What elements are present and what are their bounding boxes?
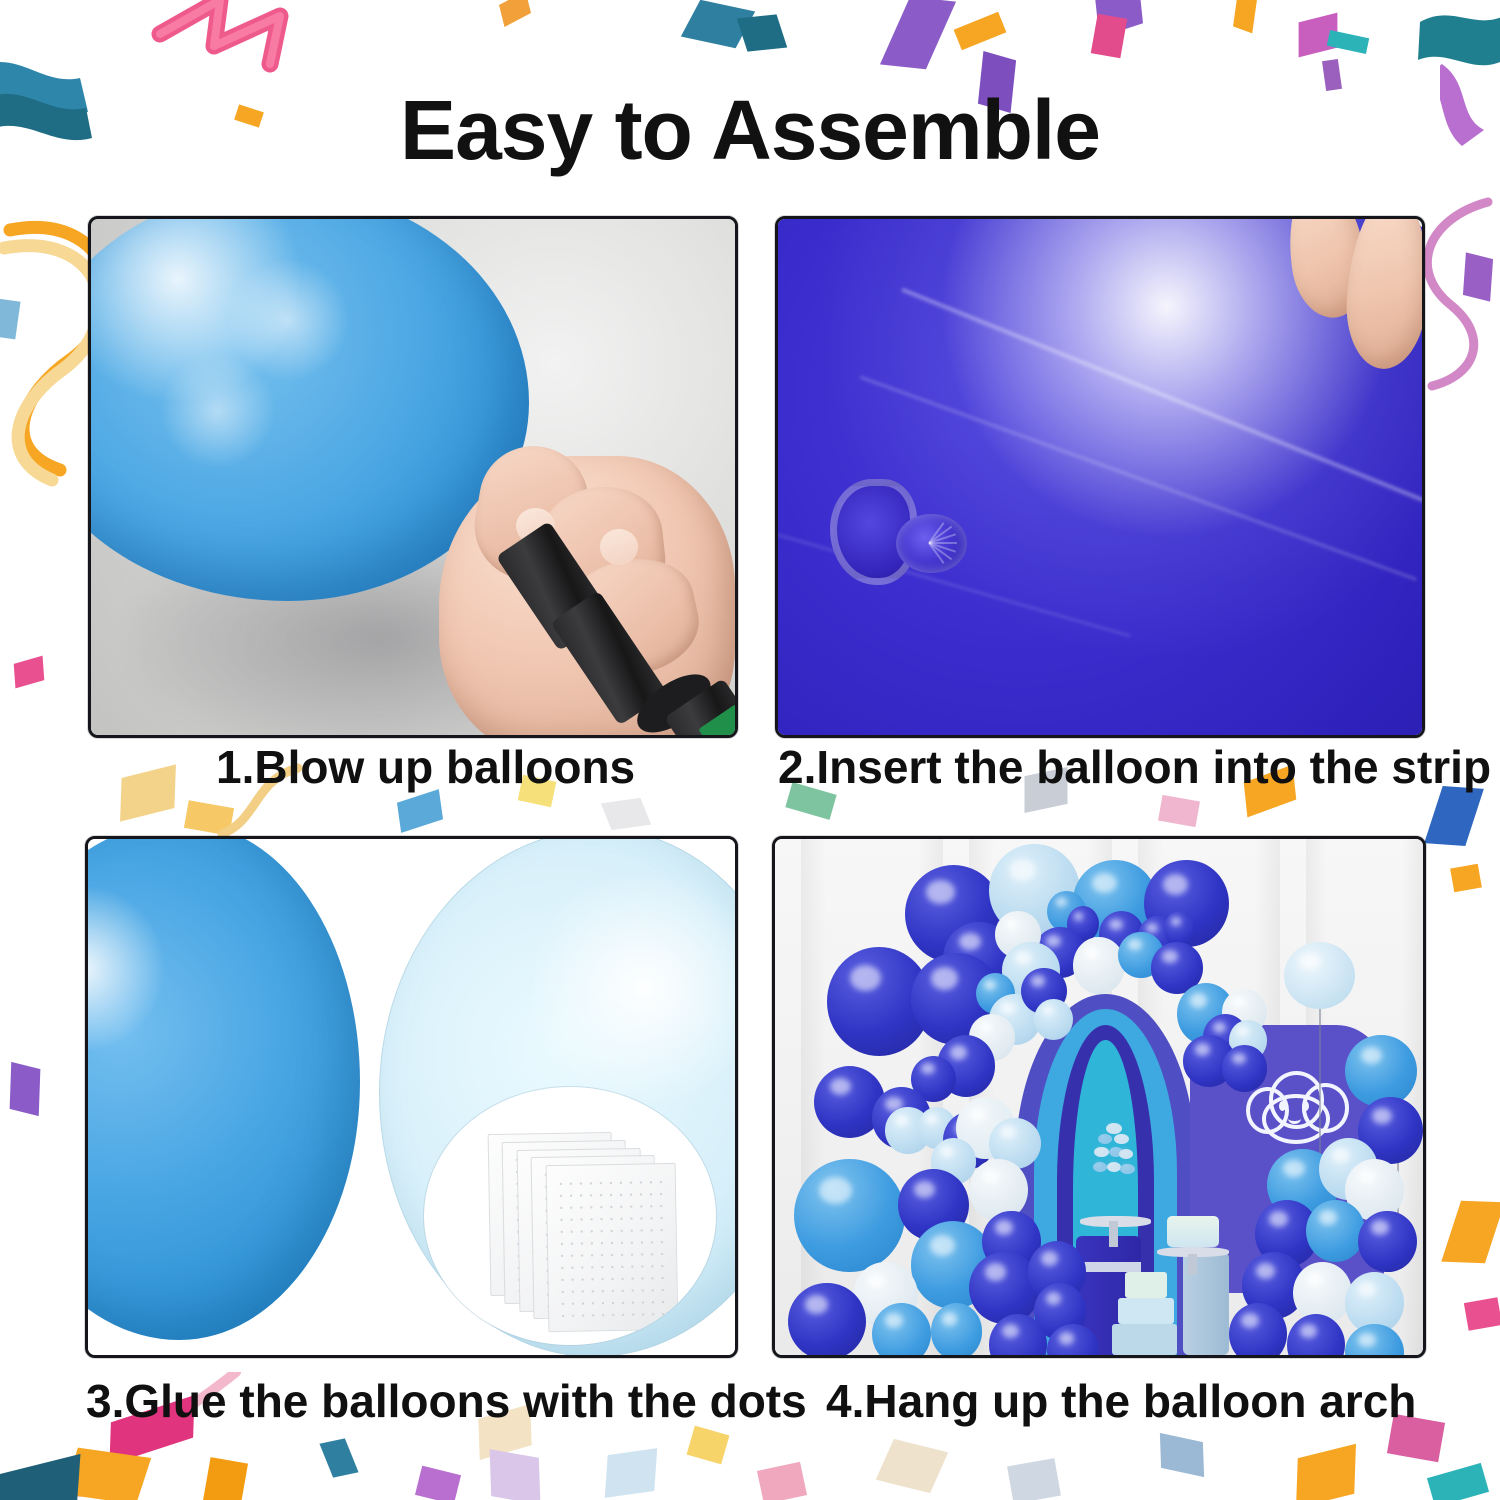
balloon-neck [830, 467, 997, 591]
cloud-smile [1288, 1113, 1300, 1124]
glue-dots-inset [424, 1087, 715, 1345]
diamond-flake-icon [1160, 1433, 1204, 1477]
diamond-flake-icon [687, 1426, 730, 1465]
glue-dot-sheet [545, 1163, 678, 1332]
cake-stand-stem [1188, 1254, 1196, 1275]
tiered-cake-top [1125, 1272, 1167, 1298]
balloon-sky-blue [872, 1303, 930, 1358]
diamond-flake-icon [1464, 1297, 1500, 1330]
diamond-flake-icon [415, 1466, 461, 1500]
balloon-royal-blue [788, 1283, 866, 1358]
macaron-tower [1093, 1123, 1135, 1216]
diamond-flake-icon [1095, 0, 1143, 37]
diamond-flake-icon [0, 299, 21, 340]
balloon-pale-blue [1284, 942, 1355, 1009]
step-2-image [775, 216, 1425, 738]
diamond-flake-icon [63, 1448, 151, 1500]
diamond-flake-icon [397, 789, 443, 833]
fingernail [600, 529, 639, 565]
diamond-flake-icon [184, 800, 234, 836]
step-3-caption: 3.Glue the balloons with the dots [86, 1374, 807, 1428]
diamond-flake-icon [490, 1449, 541, 1500]
diamond-flake-icon [499, 0, 531, 27]
diamond-flake-icon [1327, 30, 1369, 54]
diamond-flake-icon [10, 1062, 41, 1116]
fingers [1280, 216, 1425, 384]
diamond-flake-icon [0, 1454, 80, 1500]
cake-stand-stem [1109, 1221, 1118, 1247]
step-4-caption: 4.Hang up the balloon arch [826, 1374, 1416, 1428]
diamond-flake-icon [1091, 14, 1127, 59]
infographic-canvas: Easy to Assemble 1.Blow up balloons [0, 0, 1500, 1500]
tiered-cake-base [1112, 1324, 1177, 1355]
diamond-flake-icon [319, 1438, 358, 1477]
diamond-flake-icon [202, 1457, 248, 1500]
diamond-flake-icon [601, 798, 651, 830]
diamond-flake-icon [737, 14, 788, 51]
balloon-pale-blue [1034, 999, 1073, 1040]
page-title: Easy to Assemble [0, 82, 1500, 178]
diamond-flake-icon [120, 764, 176, 821]
step-4-image [772, 836, 1426, 1358]
balloon-royal-blue [1358, 1211, 1416, 1273]
diamond-flake-icon [14, 656, 45, 689]
diamond-flake-icon [681, 0, 755, 48]
diamond-flake-icon [1299, 13, 1338, 58]
diamond-flake-icon [1158, 795, 1200, 827]
balloon-royal-blue [1229, 1303, 1287, 1358]
balloon-sky-blue [1345, 1035, 1416, 1107]
balloon-knot [896, 514, 966, 573]
step-2-caption: 2.Insert the balloon into the strip [778, 740, 1491, 794]
balloon-sky-blue [931, 1303, 983, 1358]
balloon-white [1073, 937, 1125, 994]
balloon-royal-blue [1222, 1045, 1267, 1091]
step-1-image [88, 216, 738, 738]
diamond-flake-icon [954, 12, 1007, 50]
diamond-flake-icon [1450, 864, 1482, 892]
diamond-flake-icon [1427, 1463, 1489, 1500]
diamond-flake-icon [880, 0, 956, 69]
step-1-caption: 1.Blow up balloons [216, 740, 635, 794]
diamond-flake-icon [1007, 1458, 1061, 1500]
pedestal-band [1076, 1262, 1141, 1272]
diamond-flake-icon [1441, 1201, 1500, 1263]
tiered-cake-mid [1118, 1298, 1173, 1324]
diamond-flake-icon [1296, 1444, 1356, 1500]
diamond-flake-icon [1233, 0, 1257, 33]
balloon-string [1319, 1004, 1321, 1159]
diamond-flake-icon [757, 1462, 807, 1500]
cake [1167, 1216, 1219, 1247]
balloon-sky-blue [1306, 1200, 1364, 1262]
step-3-image [85, 836, 738, 1358]
balloon-sky-blue [794, 1159, 904, 1273]
diamond-flake-icon [1463, 252, 1493, 301]
diamond-flake-icon [876, 1439, 949, 1493]
diamond-flake-icon [1424, 786, 1484, 846]
diamond-flake-icon [605, 1448, 658, 1498]
